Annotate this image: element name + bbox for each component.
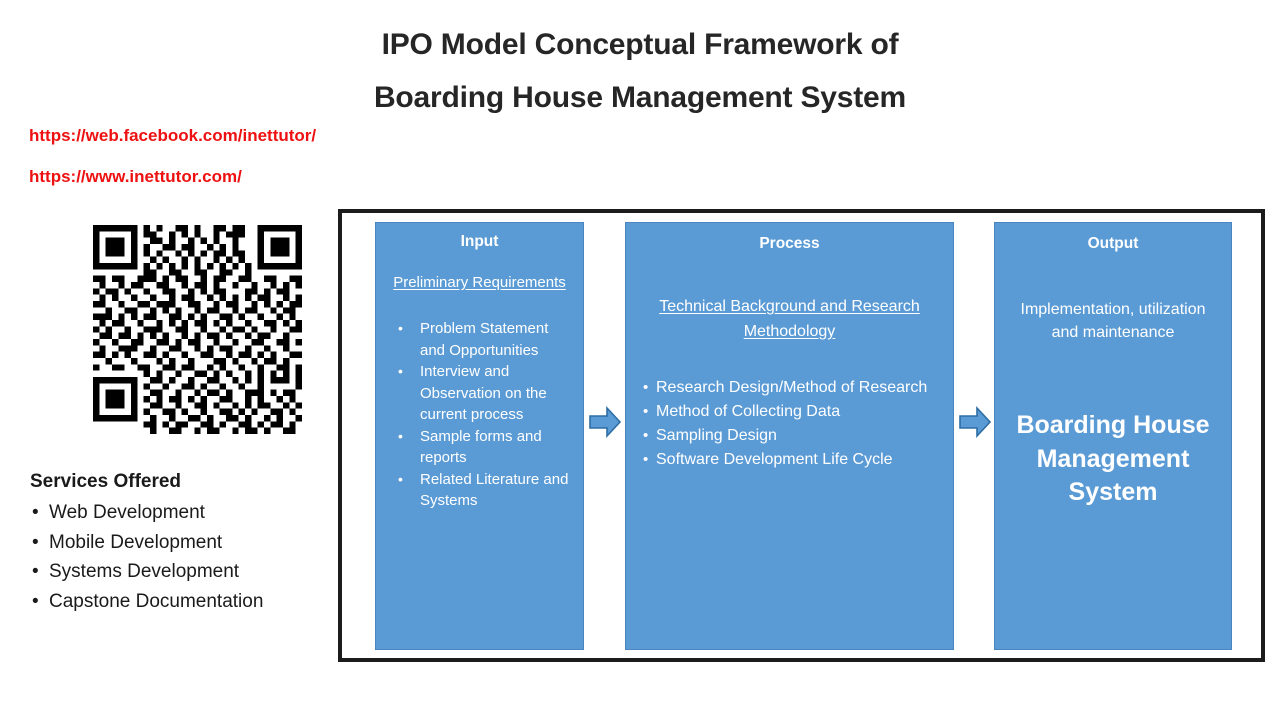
list-item: Capstone Documentation <box>30 587 263 617</box>
title-line-2: Boarding House Management System <box>0 71 1280 124</box>
title-line-1: IPO Model Conceptual Framework of <box>0 18 1280 71</box>
services-heading: Services Offered <box>30 468 263 496</box>
list-item: Related Literature and Systems <box>420 469 573 512</box>
arrow-right-icon-2 <box>958 403 992 441</box>
process-stage-box: Process Technical Background and Researc… <box>625 222 954 650</box>
list-item: Software Development Life Cycle <box>656 448 941 472</box>
process-subheading: Technical Background and Research Method… <box>626 294 953 344</box>
list-item: Web Development <box>30 498 263 528</box>
list-item: Sampling Design <box>656 424 941 448</box>
list-item: Mobile Development <box>30 528 263 558</box>
page-title: IPO Model Conceptual Framework of Boardi… <box>0 18 1280 124</box>
arrow-right-icon-1 <box>588 403 622 441</box>
input-subheading: Preliminary Requirements <box>376 272 583 293</box>
list-item: Method of Collecting Data <box>656 400 941 424</box>
output-heading: Output <box>995 234 1231 254</box>
list-item: Research Design/Method of Research <box>656 376 941 400</box>
output-description: Implementation, utilization and maintena… <box>995 298 1231 344</box>
facebook-link[interactable]: https://web.facebook.com/inettutor/ <box>29 122 316 150</box>
website-link[interactable]: https://www.inettutor.com/ <box>29 163 316 191</box>
services-list: Web Development Mobile Development Syste… <box>30 498 263 616</box>
input-heading: Input <box>376 232 583 252</box>
output-stage-box: Output Implementation, utilization and m… <box>994 222 1232 650</box>
list-item: Problem Statement and Opportunities <box>420 318 573 361</box>
input-stage-box: Input Preliminary Requirements Problem S… <box>375 222 584 650</box>
list-item: Systems Development <box>30 557 263 587</box>
qr-code-svg <box>93 225 302 434</box>
output-result: Boarding House Management System <box>995 409 1231 510</box>
list-item: Interview and Observation on the current… <box>420 361 573 426</box>
qr-code-image <box>93 225 302 434</box>
process-bullet-list: Research Design/Method of Research Metho… <box>626 376 953 472</box>
list-item: Sample forms and reports <box>420 426 573 469</box>
input-bullet-list: Problem Statement and Opportunities Inte… <box>376 318 583 512</box>
services-offered-block: Services Offered Web Development Mobile … <box>30 468 263 616</box>
process-heading: Process <box>626 234 953 254</box>
links-block: https://web.facebook.com/inettutor/ http… <box>29 122 316 191</box>
